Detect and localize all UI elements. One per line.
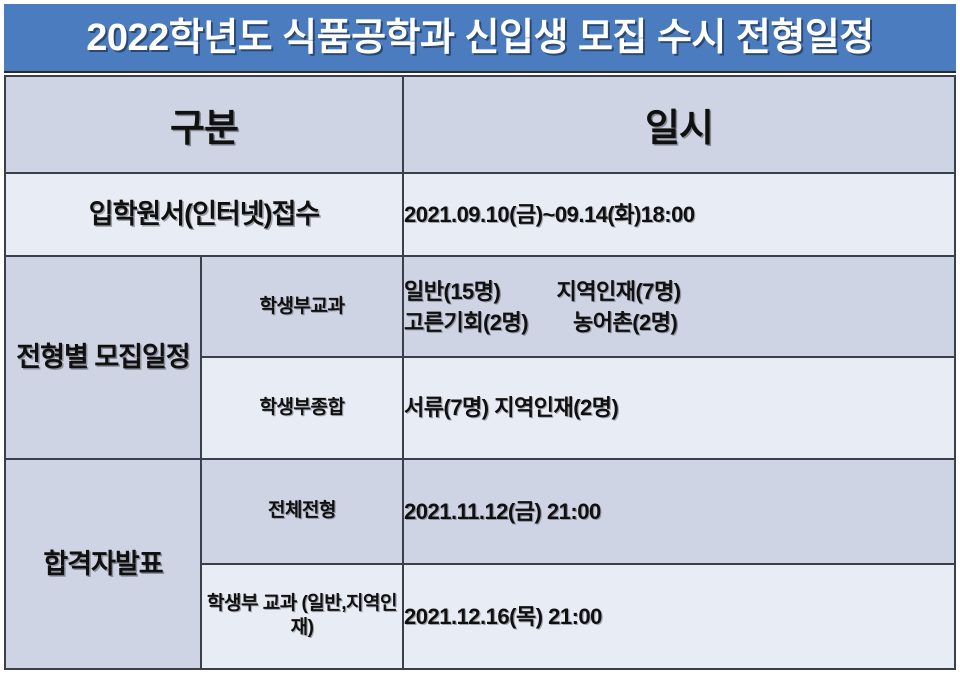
- table-row: 전형별 모집일정 학생부교과 일반(15명) 지역인재(7명) 고른기회(2명)…: [5, 256, 955, 357]
- row-value-comprehensive-record: 서류(7명) 지역인재(2명): [403, 357, 955, 458]
- row-value-label: 2021.12.16(목) 21:00: [404, 601, 954, 632]
- row-subcategory-subject-record: 학생부교과: [201, 256, 403, 357]
- row-subcategory-label: 학생부 교과 (일반,지역인재): [202, 592, 402, 641]
- header-label-datetime: 일시: [645, 108, 713, 150]
- table-row: 입학원서(인터넷)접수 2021.09.10(금)~09.14(화)18:00: [5, 173, 955, 256]
- row-value-label: 2021.11.12(금) 21:00: [404, 496, 954, 527]
- row-value-label: 일반(15명) 지역인재(7명) 고른기회(2명) 농어촌(2명): [404, 276, 954, 338]
- admissions-schedule-poster: 2022학년도 식품공학과 신입생 모집 수시 전형일정 구분 일시 입학원서(…: [0, 0, 960, 674]
- row-subcategory-label: 학생부종합: [202, 396, 402, 421]
- row-value-label: 서류(7명) 지역인재(2명): [404, 392, 954, 423]
- row-subcategory-subject-general-local: 학생부 교과 (일반,지역인재): [201, 564, 403, 669]
- schedule-table: 구분 일시 입학원서(인터넷)접수 2021.09.10(금)~09.14(화)…: [4, 75, 956, 670]
- row-category-label: 전형별 모집일정: [6, 340, 200, 375]
- table-header-row: 구분 일시: [5, 76, 955, 173]
- row-subcategory-label: 학생부교과: [202, 295, 402, 320]
- table-row: 합격자발표 전체전형 2021.11.12(금) 21:00: [5, 459, 955, 564]
- row-category-application: 입학원서(인터넷)접수: [5, 173, 403, 256]
- header-cell-category: 구분: [5, 76, 403, 173]
- poster-title: 2022학년도 식품공학과 신입생 모집 수시 전형일정: [86, 19, 874, 57]
- row-subcategory-all-tracks: 전체전형: [201, 459, 403, 564]
- row-value-subject-record: 일반(15명) 지역인재(7명) 고른기회(2명) 농어촌(2명): [403, 256, 955, 357]
- row-value-all-tracks: 2021.11.12(금) 21:00: [403, 459, 955, 564]
- header-cell-datetime: 일시: [403, 76, 955, 173]
- poster-title-banner: 2022학년도 식품공학과 신입생 모집 수시 전형일정: [4, 4, 956, 73]
- row-subcategory-label: 전체전형: [202, 499, 402, 524]
- row-category-track-schedule: 전형별 모집일정: [5, 256, 201, 458]
- row-value-application: 2021.09.10(금)~09.14(화)18:00: [403, 173, 955, 256]
- row-category-label: 합격자발표: [6, 547, 200, 582]
- row-subcategory-comprehensive-record: 학생부종합: [201, 357, 403, 458]
- row-category-announcement: 합격자발표: [5, 459, 201, 669]
- header-label-category: 구분: [170, 108, 238, 150]
- row-value-subject-general-local: 2021.12.16(목) 21:00: [403, 564, 955, 669]
- row-value-label: 2021.09.10(금)~09.14(화)18:00: [404, 199, 954, 230]
- row-category-label: 입학원서(인터넷)접수: [6, 197, 402, 232]
